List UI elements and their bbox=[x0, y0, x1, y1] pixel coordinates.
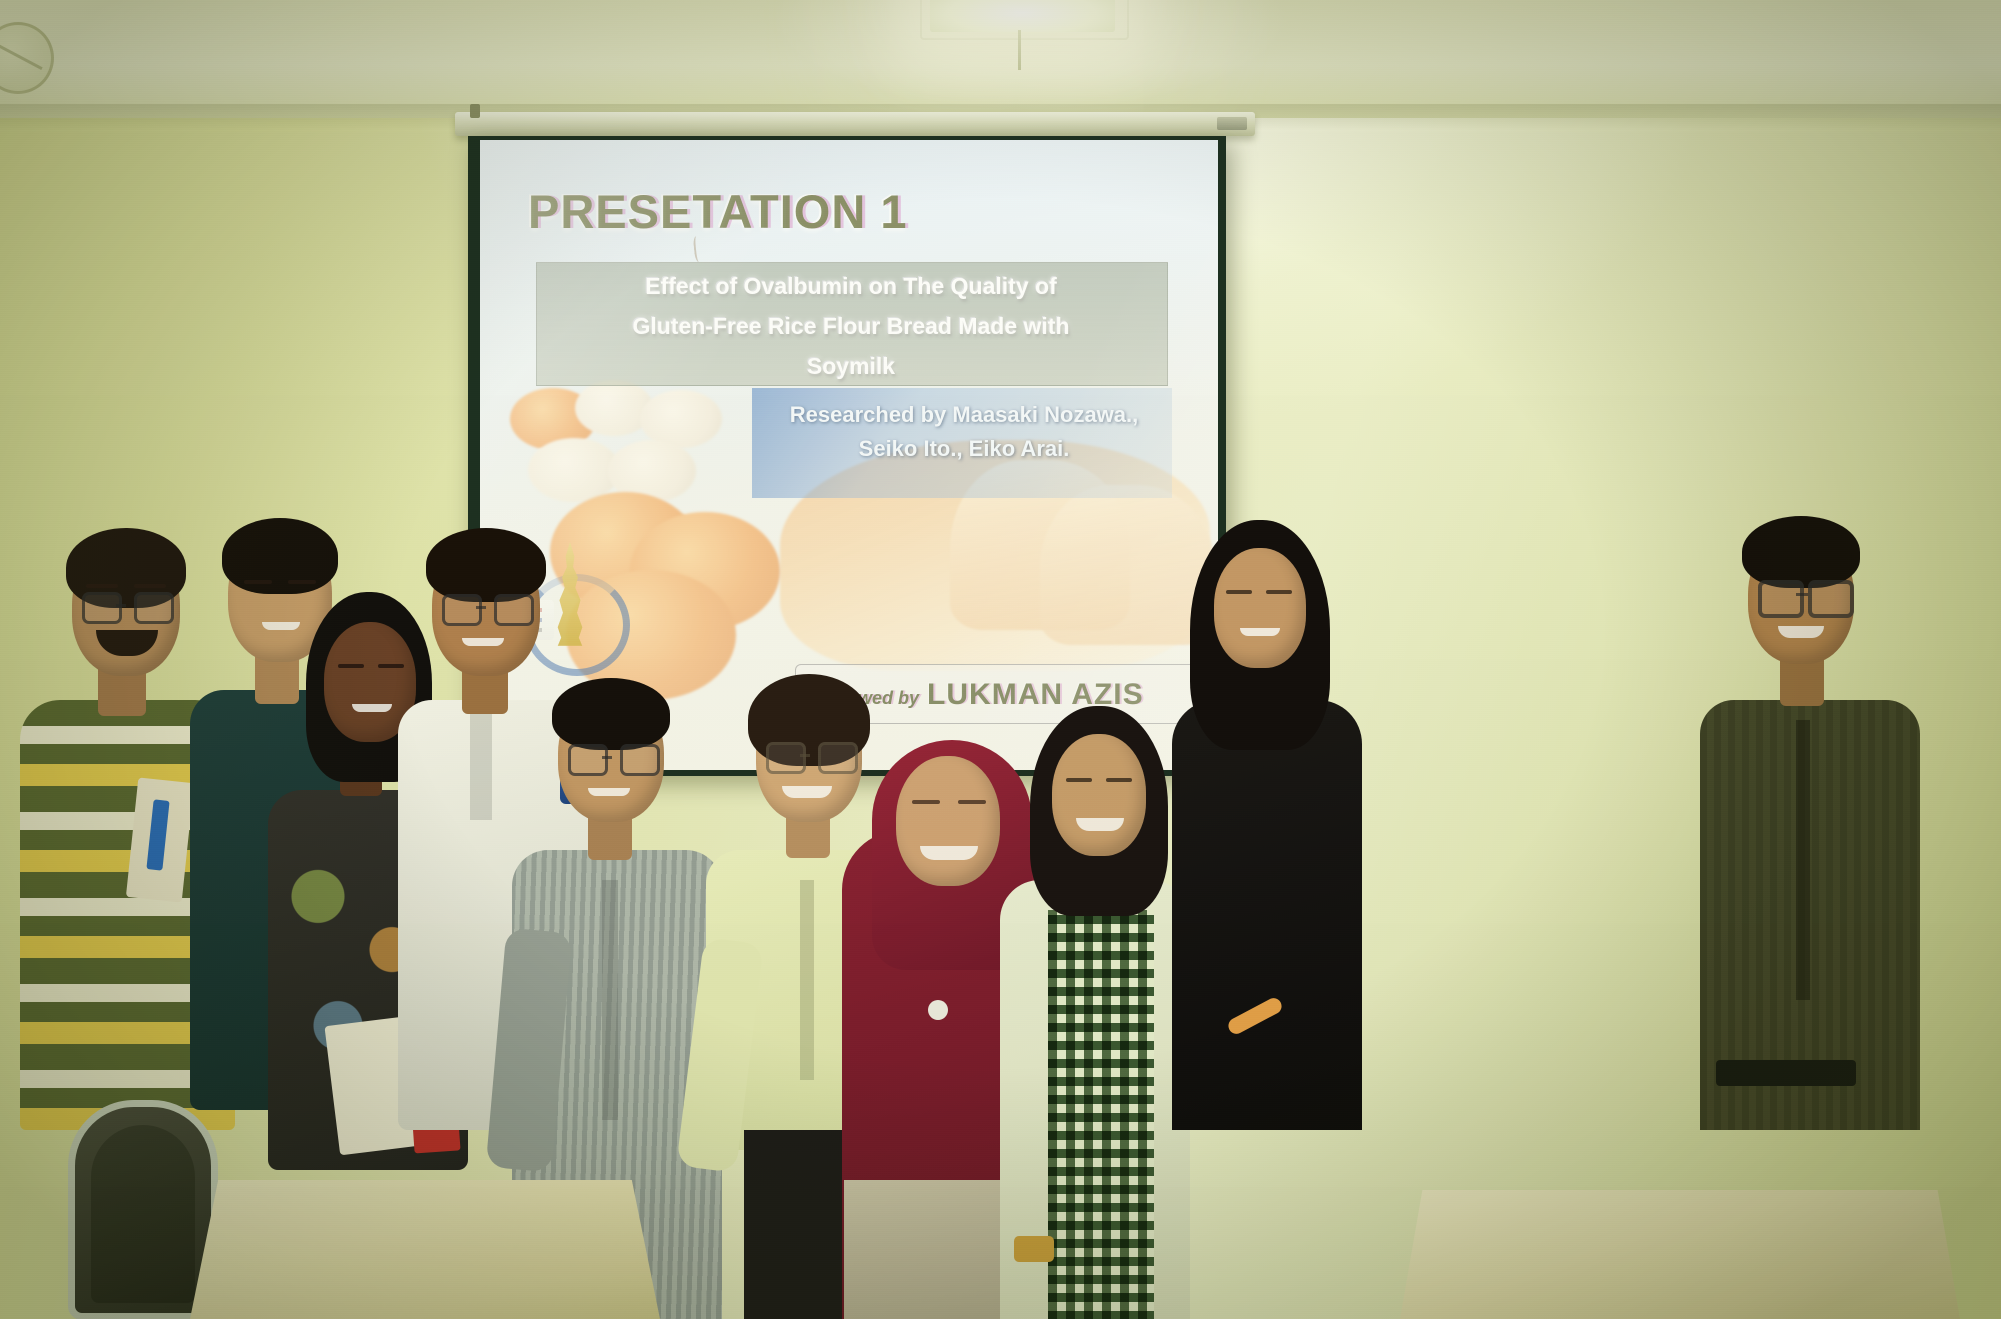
shirt-placket bbox=[1796, 720, 1810, 1000]
ceiling-light-icon bbox=[930, 0, 1115, 32]
projection-screen-surface: PRESETATION 1 Effect of Ovalbumin on The… bbox=[480, 140, 1218, 770]
chair-back-frame bbox=[68, 1100, 218, 1319]
table-left bbox=[190, 1180, 660, 1319]
eyebrow bbox=[1226, 590, 1252, 594]
light-cord bbox=[1018, 30, 1021, 70]
researched-line-2: Seiko Ito., Eiko Arai. bbox=[758, 432, 1170, 466]
eyebrow bbox=[338, 664, 364, 668]
hair bbox=[1742, 516, 1860, 588]
slide-researched-credit: Researched by Maasaki Nozawa., Seiko Ito… bbox=[758, 398, 1170, 466]
face-front bbox=[1052, 734, 1146, 856]
eyebrow bbox=[288, 580, 316, 584]
glasses-icon bbox=[766, 742, 858, 772]
slide-subtitle-line-1: Effect of Ovalbumin on The Quality of bbox=[536, 266, 1166, 306]
glasses-icon bbox=[442, 594, 534, 624]
photo-scene: PRESETATION 1 Effect of Ovalbumin on The… bbox=[0, 0, 2001, 1319]
projection-screen-frame: PRESETATION 1 Effect of Ovalbumin on The… bbox=[468, 136, 1226, 776]
table-right bbox=[1400, 1190, 1960, 1319]
smile bbox=[1240, 628, 1280, 636]
roller-bracket bbox=[470, 104, 480, 118]
eyebrow bbox=[86, 584, 118, 588]
slide-subtitle: Effect of Ovalbumin on The Quality of Gl… bbox=[536, 266, 1166, 386]
smile bbox=[352, 704, 392, 712]
smile bbox=[782, 786, 832, 798]
banquet-chair bbox=[68, 1100, 218, 1319]
hair bbox=[552, 678, 670, 750]
eyebrow bbox=[912, 800, 940, 804]
slide-subtitle-line-2: Gluten-Free Rice Flour Bread Made with bbox=[536, 306, 1166, 346]
eyebrow bbox=[1066, 778, 1092, 782]
hijab-pin bbox=[928, 1000, 948, 1020]
smile bbox=[1778, 626, 1824, 638]
eyebrow bbox=[134, 584, 166, 588]
black-top-body bbox=[1172, 700, 1362, 1130]
shirt-placket bbox=[470, 700, 492, 820]
checked-dress bbox=[1048, 910, 1154, 1319]
eyebrow bbox=[244, 580, 272, 584]
glasses-icon bbox=[82, 592, 174, 622]
shirt-placket bbox=[602, 880, 618, 1120]
eyebrow bbox=[958, 800, 986, 804]
face bbox=[896, 756, 1000, 886]
chair-back-cushion bbox=[91, 1125, 195, 1303]
glasses-icon bbox=[568, 744, 660, 774]
hair bbox=[222, 518, 338, 594]
smile bbox=[588, 788, 630, 796]
watch bbox=[1014, 1236, 1054, 1262]
slide-subtitle-line-3: Soymilk bbox=[536, 346, 1166, 386]
smile bbox=[462, 638, 504, 646]
smile bbox=[1076, 818, 1124, 831]
face-front bbox=[1214, 548, 1306, 668]
projection-screen-roller bbox=[455, 112, 1255, 136]
glasses-icon bbox=[1758, 580, 1854, 612]
smile bbox=[920, 846, 978, 860]
belt bbox=[1716, 1060, 1856, 1086]
eyebrow bbox=[1106, 778, 1132, 782]
smile bbox=[262, 622, 300, 630]
roller-endcap bbox=[1217, 117, 1247, 130]
eyebrow bbox=[378, 664, 404, 668]
shirt-placket bbox=[800, 880, 814, 1080]
slide-reviewed-credit: Reviewed byLUKMAN AZIS bbox=[810, 678, 1210, 712]
slide-title: PRESETATION 1 bbox=[528, 184, 1168, 239]
hair bbox=[426, 528, 546, 602]
researched-line-1: Researched by Maasaki Nozawa., bbox=[758, 398, 1170, 432]
eyebrow bbox=[1266, 590, 1292, 594]
